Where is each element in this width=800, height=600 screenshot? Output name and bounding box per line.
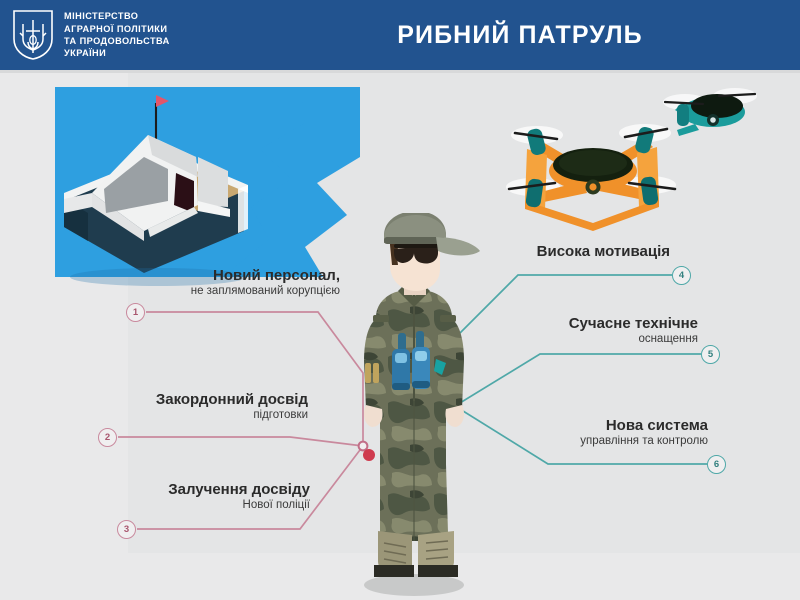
diagram-item-6: Нова система управління та контролю <box>430 417 708 449</box>
badge-2: 2 <box>98 428 117 447</box>
ministry-line-1: МІНІСТЕРСТВО <box>64 11 170 21</box>
ministry-line-4: УКРАЇНИ <box>64 48 170 58</box>
fish-patrol-officer <box>340 213 490 598</box>
badge-1: 1 <box>126 303 145 322</box>
item-1-title: Новий персонал, <box>0 267 340 284</box>
item-2-subtitle: підготовки <box>0 409 308 423</box>
diagram-item-3: Залучення досвіду Нової поліції <box>0 481 310 513</box>
connector-line-5 <box>455 354 701 406</box>
badge-3: 3 <box>117 520 136 539</box>
diagram-item-4: Висока мотивація <box>400 243 670 261</box>
badge-5: 5 <box>701 345 720 364</box>
ministry-name: МІНІСТЕРСТВО АГРАРНОЇ ПОЛІТИКИ ТА ПРОДОВ… <box>64 11 170 58</box>
connector-line-2 <box>118 437 363 446</box>
item-4-title: Висока мотивація <box>400 243 670 260</box>
item-3-subtitle: Нової поліції <box>0 499 310 513</box>
item-5-title: Сучасне технічне <box>420 315 698 332</box>
item-6-title: Нова система <box>430 417 708 434</box>
ministry-line-2: АГРАРНОЇ ПОЛІТИКИ <box>64 24 170 34</box>
infographic-scene: Новий персонал, не заплямований корупціє… <box>0 73 800 600</box>
item-1-subtitle: не заплямований корупцією <box>0 285 340 299</box>
ukraine-trident-crest-icon <box>12 9 54 61</box>
item-5-subtitle: оснащення <box>420 333 698 347</box>
page-title: РИБНИЙ ПАТРУЛЬ <box>397 21 642 50</box>
diagram-item-2: Закордонний досвід підготовки <box>0 391 308 423</box>
ministry-line-3: ТА ПРОДОВОЛЬСТВА <box>64 36 170 46</box>
item-2-title: Закордонний досвід <box>0 391 308 408</box>
diagram-item-5: Сучасне технічне оснащення <box>420 315 698 347</box>
badge-6: 6 <box>707 455 726 474</box>
item-6-subtitle: управління та контролю <box>430 435 708 449</box>
page-header: МІНІСТЕРСТВО АГРАРНОЇ ПОЛІТИКИ ТА ПРОДОВ… <box>0 0 800 70</box>
item-3-title: Залучення досвіду <box>0 481 310 498</box>
badge-4: 4 <box>672 266 691 285</box>
title-container: РИБНИЙ ПАТРУЛЬ <box>300 21 800 50</box>
connector-line-1 <box>146 312 363 446</box>
ministry-branding: МІНІСТЕРСТВО АГРАРНОЇ ПОЛІТИКИ ТА ПРОДОВ… <box>0 9 300 61</box>
diagram-item-1: Новий персонал, не заплямований корупціє… <box>0 267 340 299</box>
